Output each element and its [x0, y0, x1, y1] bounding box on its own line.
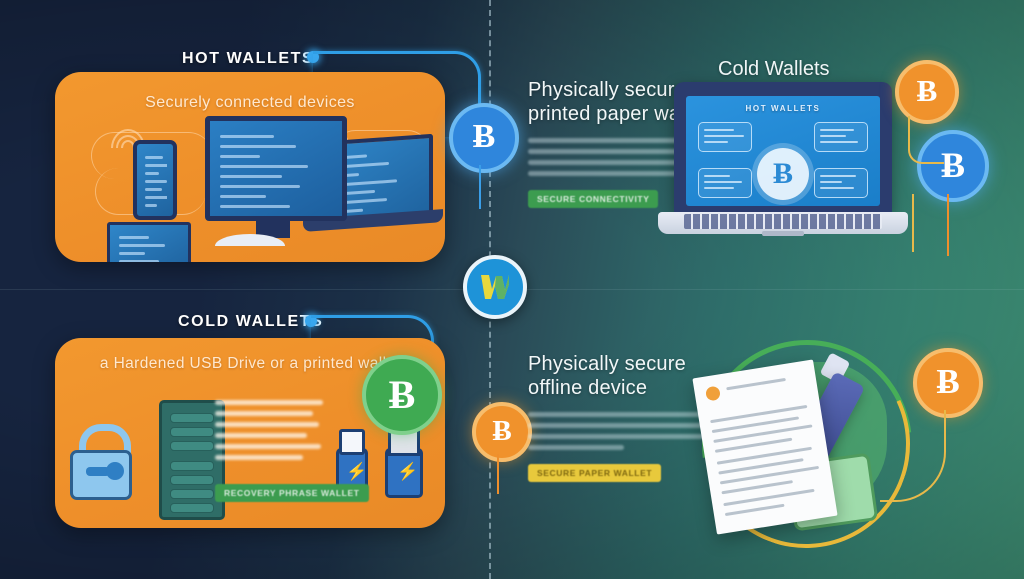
bitcoin-symbol: Ƀ: [941, 144, 965, 186]
screen-node-box: [814, 168, 868, 198]
paper-wallet-document: [692, 359, 837, 534]
bitcoin-coin-icon: Ƀ: [449, 103, 519, 173]
cold-wallets-illustration-title: Cold Wallets: [718, 58, 830, 81]
laptop-screen: HOT WALLETS Ƀ: [686, 96, 880, 206]
smartphone-illustration: [133, 140, 177, 220]
screen-node-box: [698, 168, 752, 198]
coin-stem: [947, 194, 949, 256]
bitcoin-hub-icon: Ƀ: [757, 148, 809, 200]
cold-card-button[interactable]: RECOVERY PHRASE WALLET: [215, 484, 369, 502]
screen-lines: [143, 150, 167, 210]
screen-lines: [216, 127, 336, 210]
desktop-monitor-illustration: [205, 116, 347, 221]
laptop-lid: HOT WALLETS Ƀ: [674, 82, 892, 214]
screen-node-box: [814, 122, 868, 152]
bitcoin-symbol: Ƀ: [492, 415, 511, 448]
hot-wallets-card: Securely connected devices: [55, 72, 445, 262]
lightning-bolt-icon: ⚡: [346, 463, 367, 480]
bitcoin-coin-icon: Ƀ: [913, 348, 983, 418]
bitcoin-symbol: Ƀ: [473, 118, 496, 156]
bitcoin-coin-icon: Ƀ: [362, 355, 442, 435]
screen-node-box: [698, 122, 752, 152]
bitcoin-coin-icon: Ƀ: [895, 60, 959, 124]
lightning-bolt-icon: ⚡: [397, 463, 418, 480]
cold-wallets-heading: COLD WALLETS: [178, 313, 323, 331]
bitcoin-symbol: Ƀ: [773, 157, 793, 191]
bitcoin-coin-icon: Ƀ: [472, 402, 532, 462]
padlock-keyhole: [86, 467, 110, 476]
bitcoin-symbol: Ƀ: [389, 371, 416, 418]
usb-drive-connector: [339, 429, 365, 455]
laptop-screen-title: HOT WALLETS: [686, 104, 880, 113]
bitcoin-symbol: Ƀ: [917, 73, 938, 109]
cold-card-body-text: [215, 400, 325, 466]
coin-stem: [497, 454, 499, 494]
secure-connectivity-button[interactable]: SECURE CONNECTIVITY: [528, 190, 658, 208]
hot-wallets-card-subtitle: Securely connected devices: [55, 94, 445, 112]
coin-stem: [912, 194, 914, 252]
coin-stem: [479, 165, 481, 209]
document-seal-icon: [705, 385, 721, 401]
small-laptop-illustration: [107, 222, 191, 262]
wallet-logo-badge: [463, 255, 527, 319]
bitcoin-symbol: Ƀ: [936, 362, 959, 402]
laptop-keyboard: [684, 214, 882, 229]
coin-stem: [908, 116, 944, 164]
screen-lines: [116, 231, 182, 262]
lightning-w-mark-icon: [478, 272, 512, 302]
infographic-canvas: HOT WALLETS Securely connected devices: [0, 0, 1024, 579]
hot-wallets-heading: HOT WALLETS: [182, 50, 314, 68]
laptop-trackpad: [762, 231, 804, 236]
secure-paper-wallet-button[interactable]: SECURE PAPER WALLET: [528, 464, 661, 482]
laptop-dashboard-illustration: HOT WALLETS Ƀ: [658, 82, 908, 267]
